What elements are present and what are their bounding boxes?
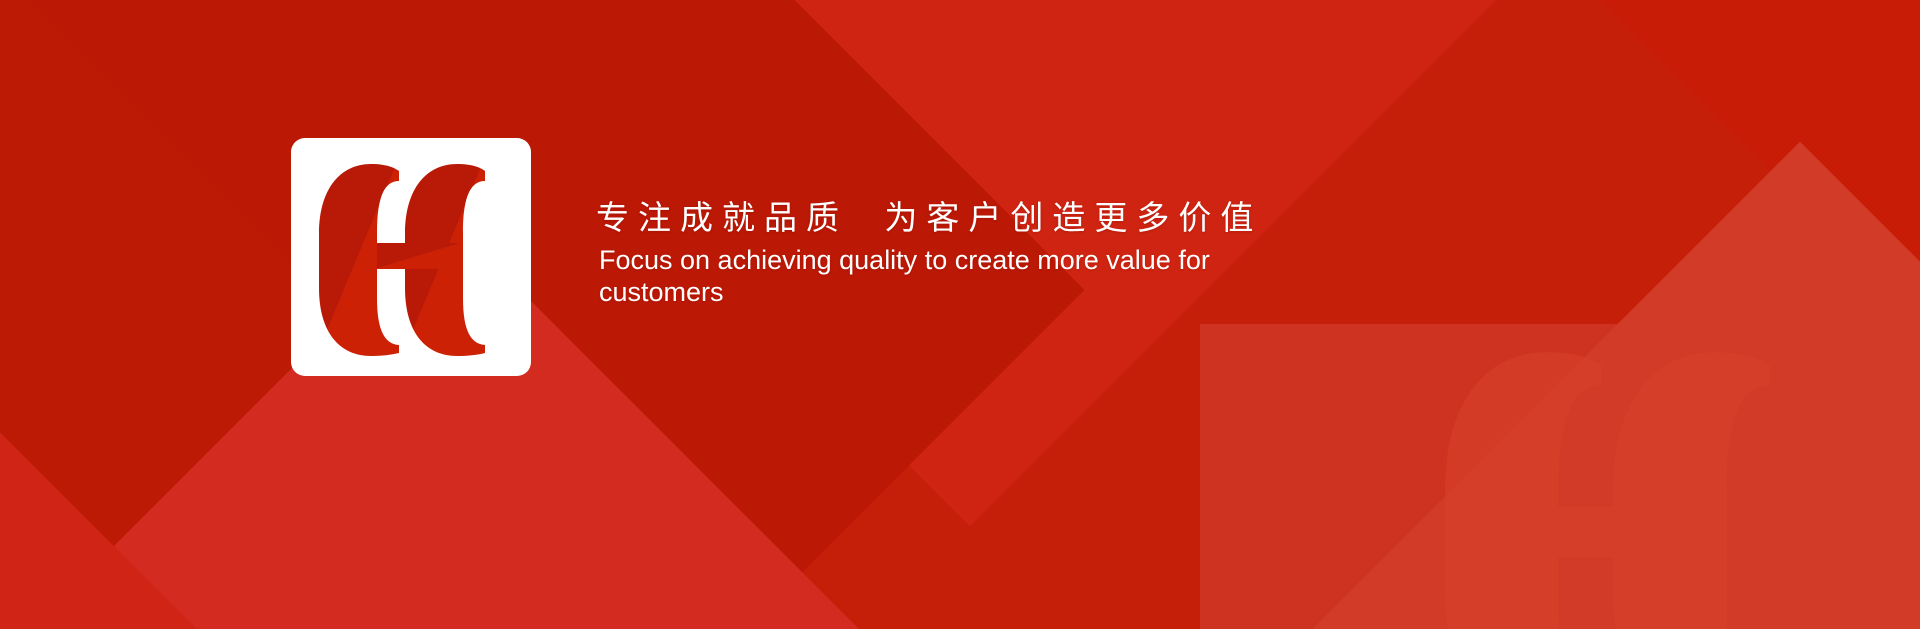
brand-logo[interactable] bbox=[291, 138, 531, 376]
watermark-h-logo-icon bbox=[1410, 319, 1840, 629]
slogan-block: 专注成就品质 为客户创造更多价值 Focus on achieving qual… bbox=[596, 196, 1596, 308]
slogan-english: Focus on achieving quality to create mor… bbox=[596, 244, 1239, 308]
hero-banner: 专注成就品质 为客户创造更多价值 Focus on achieving qual… bbox=[0, 0, 1920, 629]
background-wedge-bright-corner bbox=[0, 362, 298, 629]
background-wedge-dark-left bbox=[0, 0, 1084, 629]
slogan-chinese: 专注成就品质 为客户创造更多价值 bbox=[596, 196, 1596, 240]
background-pattern bbox=[0, 0, 1920, 629]
watermark-panel bbox=[1200, 324, 1920, 629]
h-monogram-icon bbox=[301, 148, 521, 366]
